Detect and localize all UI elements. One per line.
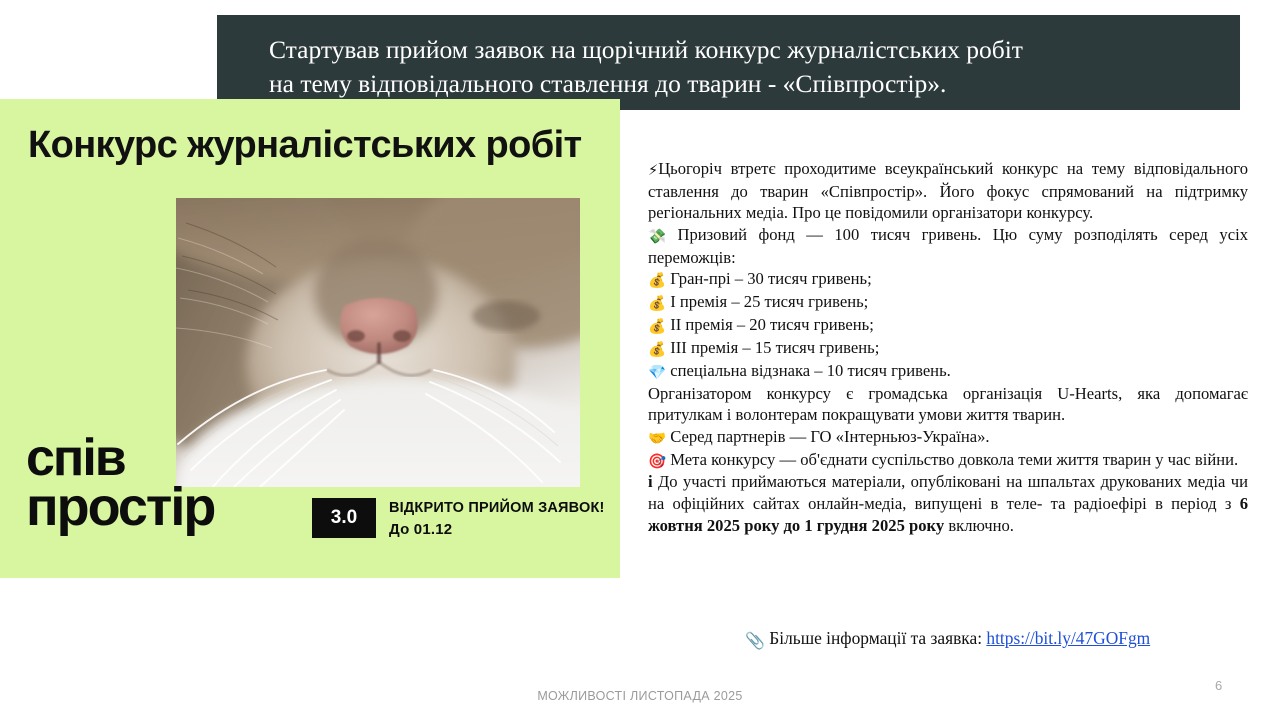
prize-label: Гран-прі – 30 тисяч гривень; bbox=[670, 269, 872, 288]
slide-title-line-1: Стартував прийом заявок на щорічний конк… bbox=[269, 35, 1023, 64]
prize-label: ІІІ премія – 15 тисяч гривень; bbox=[670, 338, 879, 357]
para-fund-text: Призовий фонд — 100 тисяч гривень. Цю су… bbox=[648, 225, 1248, 267]
article-body: ⚡Цьогоріч втретє проходитиме всеукраїнсь… bbox=[648, 158, 1248, 536]
money-bag-icon: 💰 bbox=[648, 295, 666, 314]
footer-label: МОЖЛИВОСТІ ЛИСТОПАДА 2025 bbox=[0, 689, 1280, 703]
para-rules-post: включно. bbox=[944, 516, 1014, 535]
money-bag-icon: 💰 bbox=[648, 318, 666, 337]
prize-label: спеціальна відзнака – 10 тисяч гривень. bbox=[670, 361, 951, 380]
prize-item: 💰 Гран-прі – 30 тисяч гривень; bbox=[648, 268, 1248, 291]
paperclip-icon: 📎 bbox=[745, 631, 765, 650]
lightning-bolt-icon: ⚡ bbox=[648, 162, 658, 181]
prize-item: 💰 І премія – 25 тисяч гривень; bbox=[648, 291, 1248, 314]
money-bag-icon: 💰 bbox=[648, 341, 666, 360]
prize-item: 💰 ІІІ премія – 15 тисяч гривень; bbox=[648, 337, 1248, 360]
info-icon: і bbox=[648, 472, 653, 491]
para-intro-text: Цьогоріч втретє проходитиме всеукраїнськ… bbox=[648, 159, 1248, 222]
page-number: 6 bbox=[1215, 678, 1222, 693]
badge-line-1: ВІДКРИТО ПРИЙОМ ЗАЯВОК! bbox=[389, 498, 605, 519]
more-info-line: 📎 Більше інформації та заявка: https://b… bbox=[745, 628, 1255, 650]
cat-photo bbox=[176, 198, 580, 487]
target-icon: 🎯 bbox=[648, 453, 666, 472]
slide-title-banner: Стартував прийом заявок на щорічний конк… bbox=[217, 15, 1240, 110]
poster-panel: Конкурс журналістських робіт bbox=[0, 99, 620, 578]
slide-title-line-2: на тему відповідального ставлення до тва… bbox=[269, 69, 946, 98]
application-link[interactable]: https://bit.ly/47GOFgm bbox=[986, 628, 1150, 648]
prize-label: І премія – 25 тисяч гривень; bbox=[670, 292, 868, 311]
prize-label: ІІ премія – 20 тисяч гривень; bbox=[670, 315, 874, 334]
handshake-icon: 🤝 bbox=[648, 430, 666, 449]
prize-item: 💎 спеціальна відзнака – 10 тисяч гривень… bbox=[648, 360, 1248, 383]
gem-icon: 💎 bbox=[648, 364, 666, 383]
badge-line-2: До 01.12 bbox=[389, 519, 605, 541]
version-badge: 3.0 bbox=[312, 498, 376, 538]
para-goal-text: Мета конкурсу — об'єднати суспільство до… bbox=[670, 450, 1238, 469]
para-partners-text: Серед партнерів — ГО «Інтерньюз-Україна»… bbox=[670, 427, 989, 446]
para-intro: ⚡Цьогоріч втретє проходитиме всеукраїнсь… bbox=[648, 158, 1248, 224]
more-info-label: Більше інформації та заявка: bbox=[769, 628, 986, 648]
wordmark-line-2: простір bbox=[26, 483, 214, 533]
para-rules-pre: До участі приймаються матеріали, опублік… bbox=[648, 472, 1248, 513]
para-rules: і До участі приймаються матеріали, опубл… bbox=[648, 471, 1248, 536]
wordmark-line-1: спів bbox=[26, 435, 214, 483]
poster-heading: Конкурс журналістських робіт bbox=[28, 124, 603, 167]
prize-item: 💰 ІІ премія – 20 тисяч гривень; bbox=[648, 314, 1248, 337]
poster-badge-text: ВІДКРИТО ПРИЙОМ ЗАЯВОК! До 01.12 bbox=[389, 498, 605, 541]
money-with-wings-icon: 💸 bbox=[648, 228, 666, 247]
para-partners: 🤝 Серед партнерів — ГО «Інтерньюз-Україн… bbox=[648, 426, 1248, 449]
slide-title: Стартував прийом заявок на щорічний конк… bbox=[269, 33, 1220, 100]
para-fund: 💸 Призовий фонд — 100 тисяч гривень. Цю … bbox=[648, 224, 1248, 268]
money-bag-icon: 💰 bbox=[648, 272, 666, 291]
poster-wordmark: спів простір bbox=[26, 435, 214, 533]
poster-badge-row: 3.0 ВІДКРИТО ПРИЙОМ ЗАЯВОК! До 01.12 bbox=[312, 498, 605, 541]
para-goal: 🎯 Мета конкурсу — об'єднати суспільство … bbox=[648, 449, 1248, 472]
para-organizer: Організатором конкурсу є громадська орга… bbox=[648, 383, 1248, 426]
